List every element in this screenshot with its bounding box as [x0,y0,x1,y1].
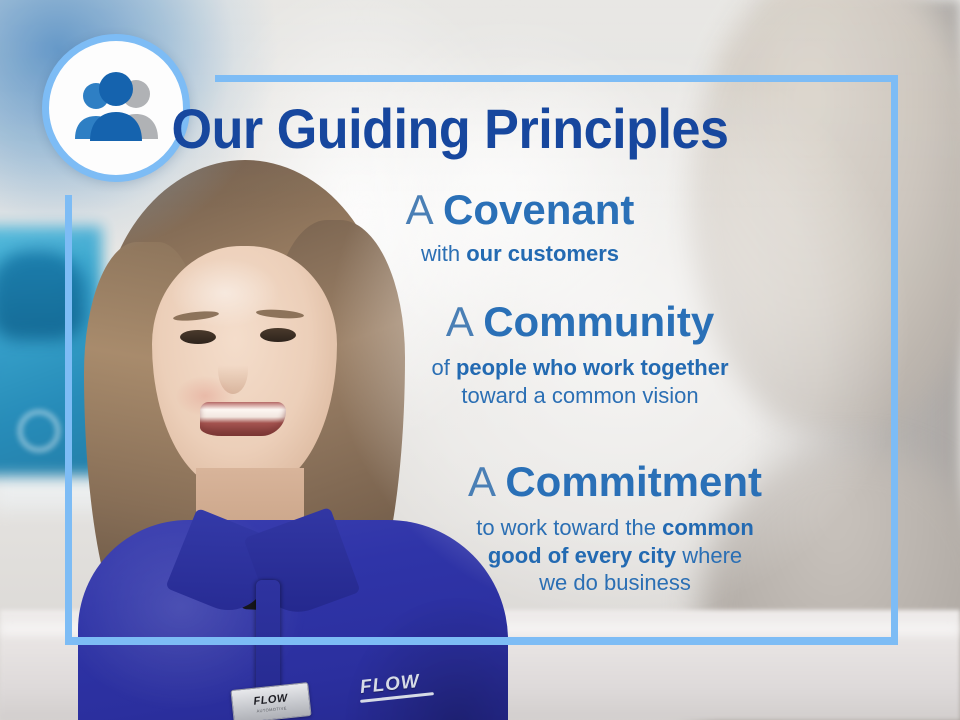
text-run: good of every city [488,543,676,568]
principle-community-heading: A Community [300,300,860,344]
principle-community-article: A [446,298,472,345]
principle-commitment-keyword: Commitment [505,458,762,505]
principle-community-subtext: of people who work togethertoward a comm… [300,354,860,409]
principle-covenant-subtext: with our customers [250,240,790,268]
principle-commitment-heading: A Commitment [330,460,900,504]
principle-covenant-article: A [406,186,432,233]
principle-commitment-article: A [468,458,494,505]
principle-community: A Community of people who work togethert… [300,300,860,409]
text-run: we do business [539,570,691,595]
principle-commitment: A Commitment to work toward the commongo… [330,460,900,597]
principle-commitment-subtext: to work toward the commongood of every c… [330,514,900,597]
text-run: to work toward the [476,515,662,540]
text-run: our customers [466,241,619,266]
text-run: toward a common vision [461,383,698,408]
text-run: people who work together [456,355,729,380]
principle-covenant: A Covenant with our customers [250,188,790,268]
text-run: of [431,355,455,380]
principle-covenant-keyword: Covenant [443,186,634,233]
principle-community-keyword: Community [483,298,714,345]
text-content: Our Guiding Principles A Covenant with o… [0,0,960,720]
guiding-principles-graphic: FLOW AUTOMOTIVE FLOW [0,0,960,720]
page-title: Our Guiding Principles [32,96,869,161]
text-run: with [421,241,466,266]
principle-covenant-heading: A Covenant [250,188,790,232]
text-run: common [662,515,754,540]
text-run: where [676,543,742,568]
